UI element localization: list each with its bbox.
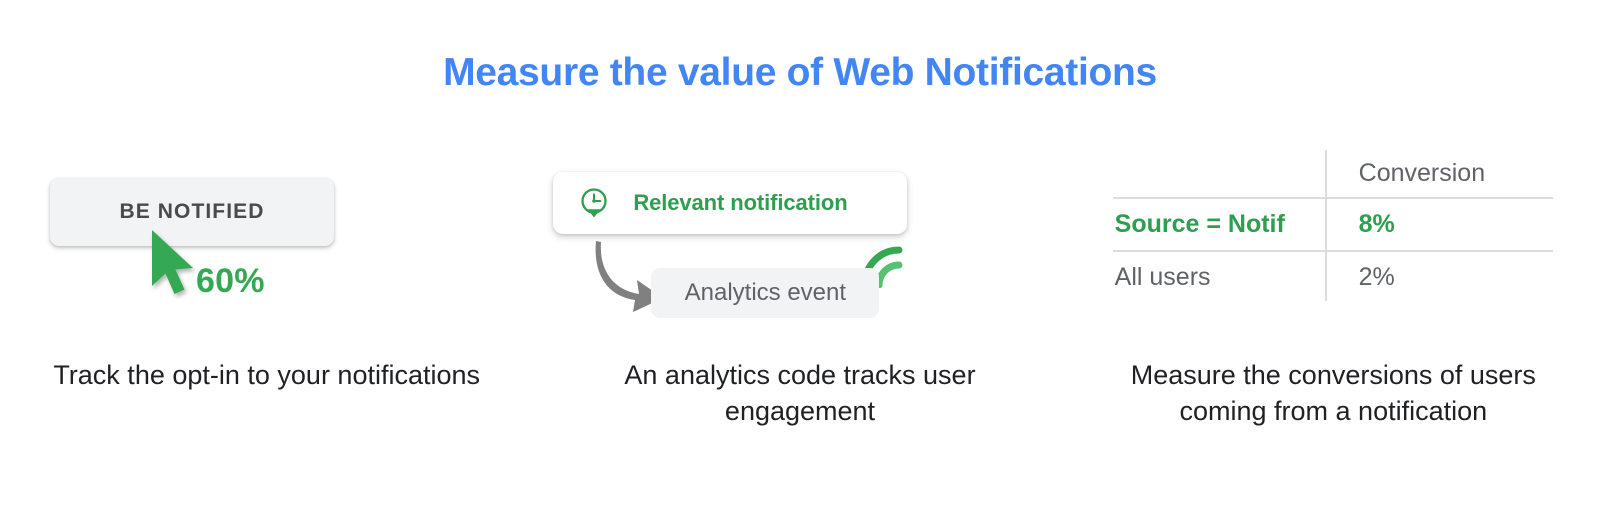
table-row-label: Source = Notif xyxy=(1113,210,1325,239)
analytics-event-chip[interactable]: Analytics event xyxy=(651,268,879,318)
analytics-caption: An analytics code tracks user engagement xyxy=(533,358,1066,429)
relevant-notification-label: Relevant notification xyxy=(633,190,847,216)
clock-pin-icon xyxy=(577,186,611,220)
table-row-label: All users xyxy=(1113,263,1325,292)
opt-in-caption: Track the opt-in to your notifications xyxy=(0,358,533,394)
relevant-notification-card[interactable]: Relevant notification xyxy=(553,172,907,234)
conversion-caption: Measure the conversions of users coming … xyxy=(1067,358,1600,429)
column-conversion: Conversion Source = Notif 8% All users 2… xyxy=(1067,140,1600,480)
conversion-table: Conversion Source = Notif 8% All users 2… xyxy=(1113,150,1553,303)
opt-in-percentage: 60% xyxy=(196,262,265,301)
table-row: All users 2% xyxy=(1113,252,1553,303)
column-opt-in: BE NOTIFIED 60% Track the opt-in to your… xyxy=(0,140,533,480)
be-notified-button-label: BE NOTIFIED xyxy=(119,200,264,224)
table-header-row: Conversion xyxy=(1113,150,1553,197)
table-row-value: 2% xyxy=(1325,263,1553,292)
page-title: Measure the value of Web Notifications xyxy=(0,50,1600,97)
table-header-conversion: Conversion xyxy=(1325,159,1553,188)
table-row: Source = Notif 8% xyxy=(1113,199,1553,250)
feature-columns: BE NOTIFIED 60% Track the opt-in to your… xyxy=(0,140,1600,480)
opt-in-visual: BE NOTIFIED 60% xyxy=(0,140,533,340)
column-analytics: Relevant notification Analytics event An… xyxy=(533,140,1066,480)
analytics-event-label: Analytics event xyxy=(685,279,846,307)
conversion-visual: Conversion Source = Notif 8% All users 2… xyxy=(1067,140,1600,340)
table-row-value: 8% xyxy=(1325,210,1553,239)
analytics-visual: Relevant notification Analytics event xyxy=(533,140,1066,340)
